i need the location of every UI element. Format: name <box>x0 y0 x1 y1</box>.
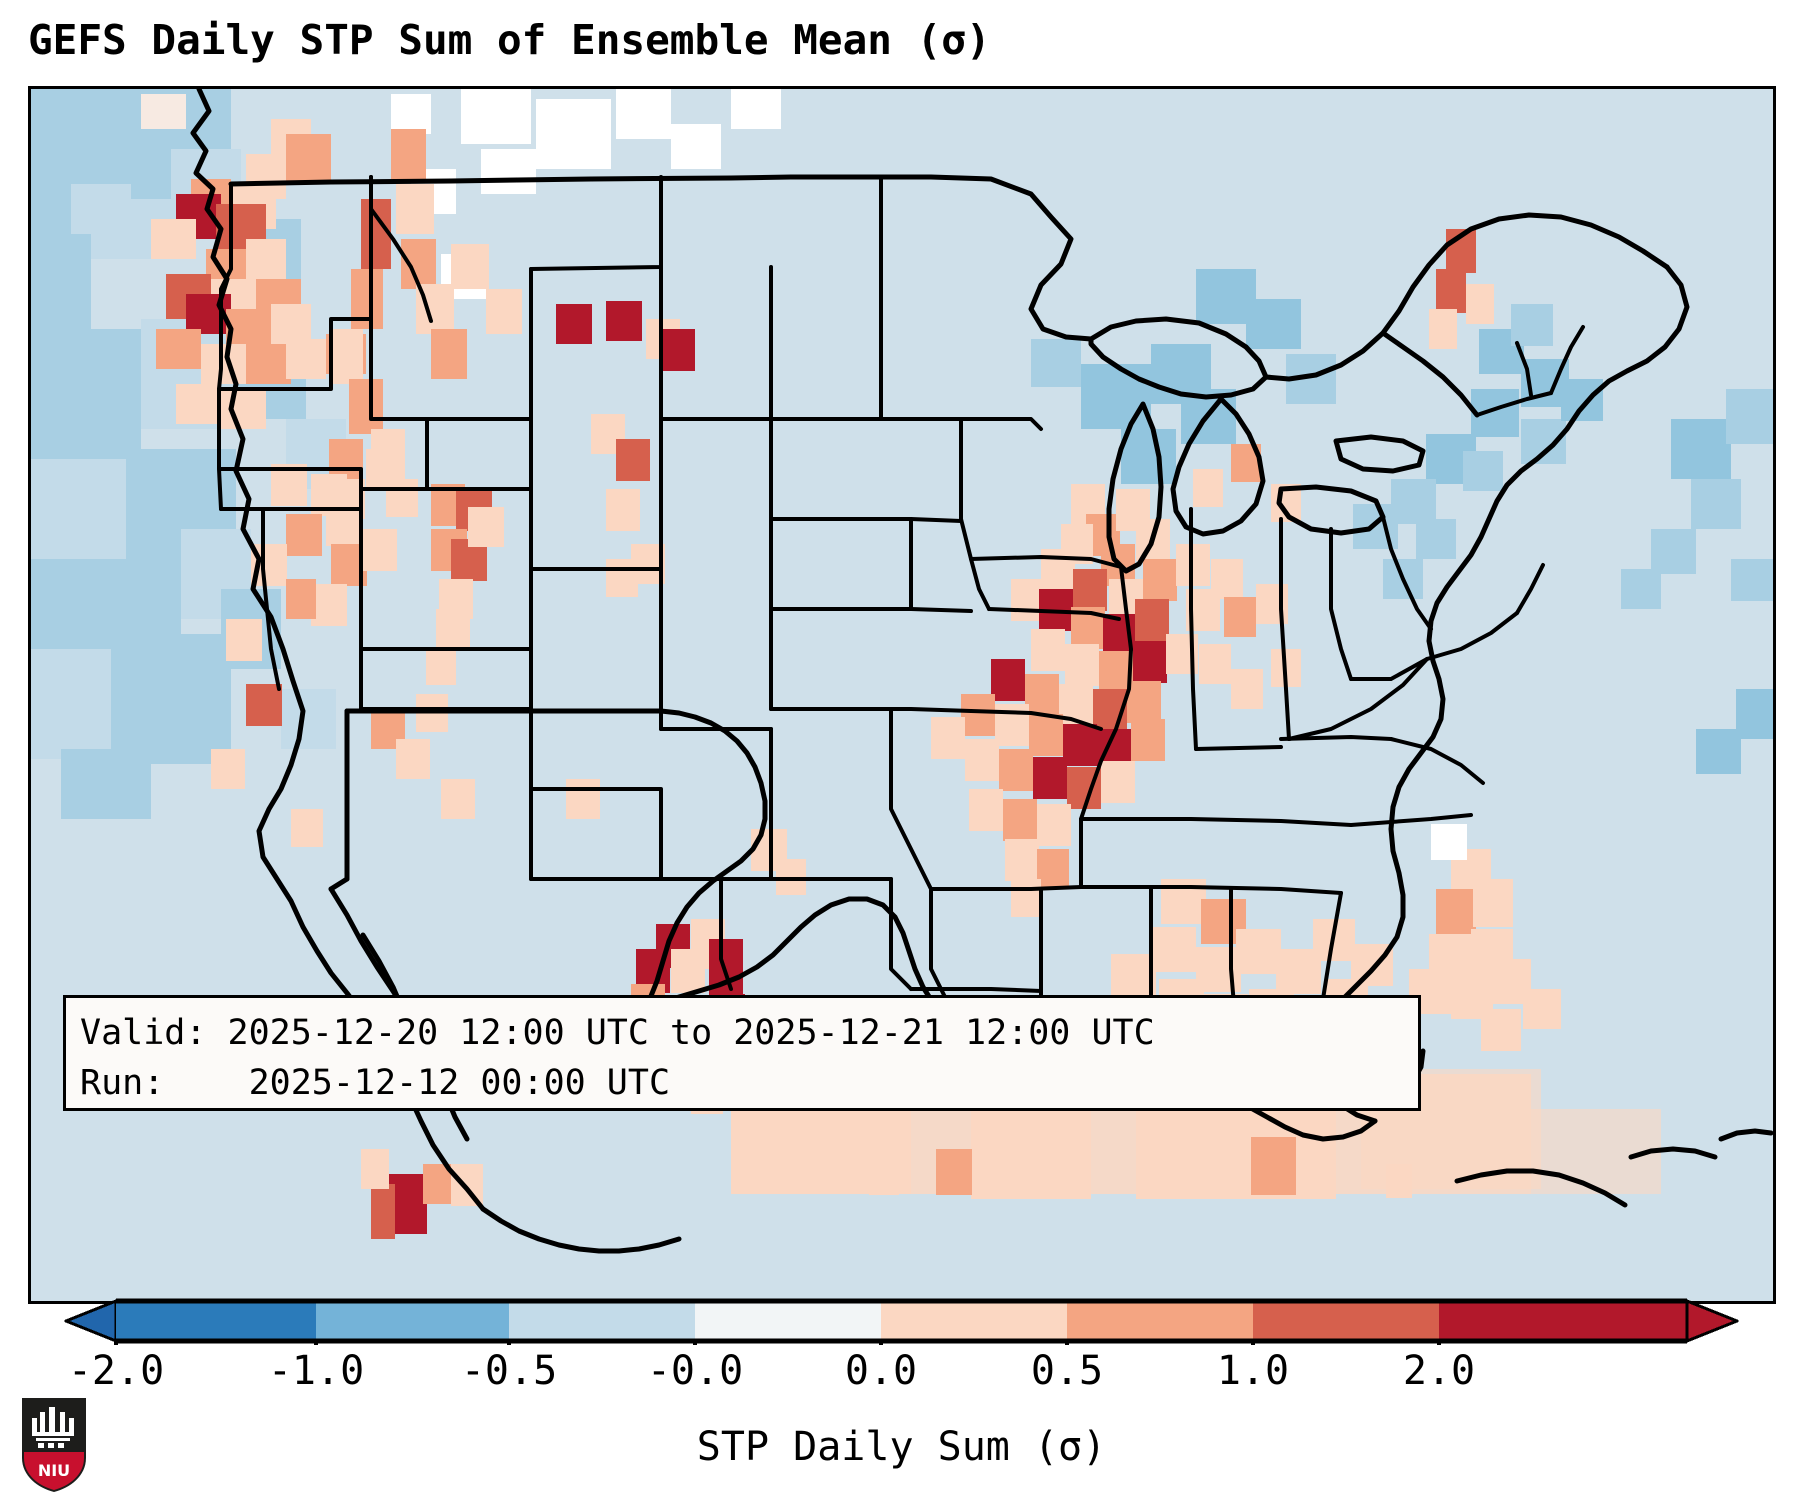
colorbar-tick-7: 2.0 <box>1403 1348 1475 1394</box>
niu-logo-text: NIU <box>38 1461 70 1480</box>
map-panel: Valid: 2025-12-20 12:00 UTC to 2025-12-2… <box>28 86 1776 1304</box>
colorbar <box>0 1297 1803 1345</box>
annotation-box: Valid: 2025-12-20 12:00 UTC to 2025-12-2… <box>63 995 1421 1111</box>
run-time-text: Run: 2025-12-12 00:00 UTC <box>80 1058 1404 1108</box>
colorbar-under-arrow <box>66 1301 116 1341</box>
colorbar-tick-5: 0.5 <box>1031 1348 1103 1394</box>
colorbar-tick-6: 1.0 <box>1217 1348 1289 1394</box>
colorbar-tick-2: -0.5 <box>461 1348 557 1394</box>
valid-time-text: Valid: 2025-12-20 12:00 UTC to 2025-12-2… <box>80 1008 1404 1058</box>
colorbar-title: STP Daily Sum (σ) <box>0 1424 1803 1470</box>
colorbar-tick-3: -0.0 <box>647 1348 743 1394</box>
colorbar-tick-0: -2.0 <box>68 1348 164 1394</box>
page-title: GEFS Daily STP Sum of Ensemble Mean (σ) <box>28 16 991 64</box>
colorbar-tick-4: 0.0 <box>845 1348 917 1394</box>
colorbar-tick-1: -1.0 <box>268 1348 364 1394</box>
colorbar-over-arrow <box>1687 1301 1737 1341</box>
figure-root: GEFS Daily STP Sum of Ensemble Mean (σ) <box>0 0 1803 1506</box>
niu-logo: NIU <box>18 1396 90 1494</box>
map-canvas <box>31 89 1773 1301</box>
colorbar-svg <box>0 1297 1803 1345</box>
colorbar-tick-labels: -2.0 -1.0 -0.5 -0.0 0.0 0.5 1.0 2.0 <box>0 1348 1803 1408</box>
